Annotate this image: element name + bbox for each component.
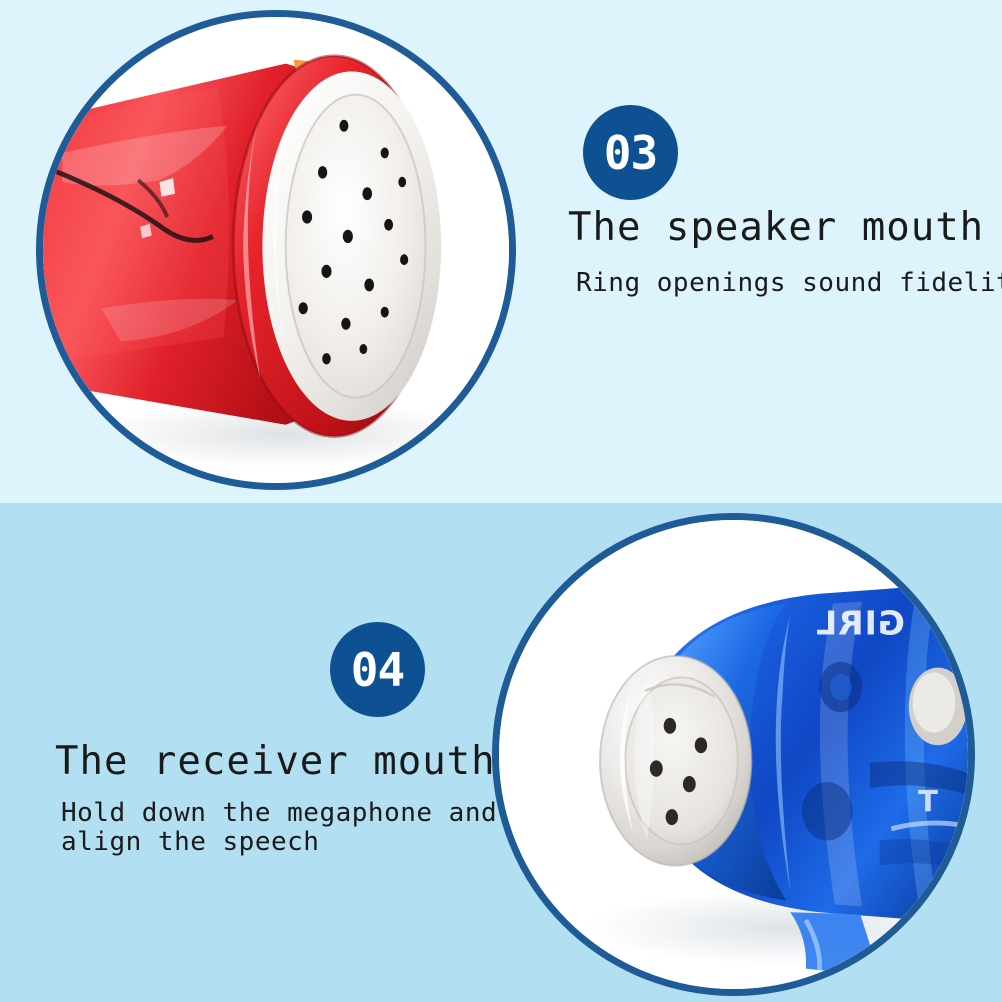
svg-text:T: T <box>918 784 938 818</box>
section-speaker-mouth: 03 The speaker mouth Ring openings sound… <box>0 0 1002 503</box>
receiver-subheading-line-2: align the speech <box>61 828 485 857</box>
receiver-heading: The receiver mouth <box>55 740 485 785</box>
speaker-heading: The speaker mouth <box>568 206 988 251</box>
product-feature-infographic: 03 The speaker mouth Ring openings sound… <box>0 0 1002 1002</box>
svg-text:GIRL: GIRL <box>815 604 905 643</box>
step-number-badge-03: 03 <box>583 105 678 200</box>
receiver-subheading-line-1: Hold down the megaphone and <box>61 799 485 828</box>
receiver-subheading: Hold down the megaphone and align the sp… <box>61 799 485 857</box>
badge-number-text: 04 <box>351 647 404 693</box>
badge-number-text: 03 <box>604 130 657 176</box>
speaker-subheading-line-1: Ring openings sound fidelity <box>576 269 988 298</box>
red-megaphone-speaker-grille-photo <box>36 10 516 490</box>
section-receiver-mouth: GIRL T <box>0 503 1002 1002</box>
speaker-subheading: Ring openings sound fidelity <box>576 269 988 298</box>
receiver-text-block: The receiver mouth Hold down the megapho… <box>55 740 485 857</box>
blue-toy-phone-receiver-photo: GIRL T <box>492 513 975 996</box>
step-number-badge-04: 04 <box>330 622 425 717</box>
speaker-text-block: The speaker mouth Ring openings sound fi… <box>568 206 988 298</box>
